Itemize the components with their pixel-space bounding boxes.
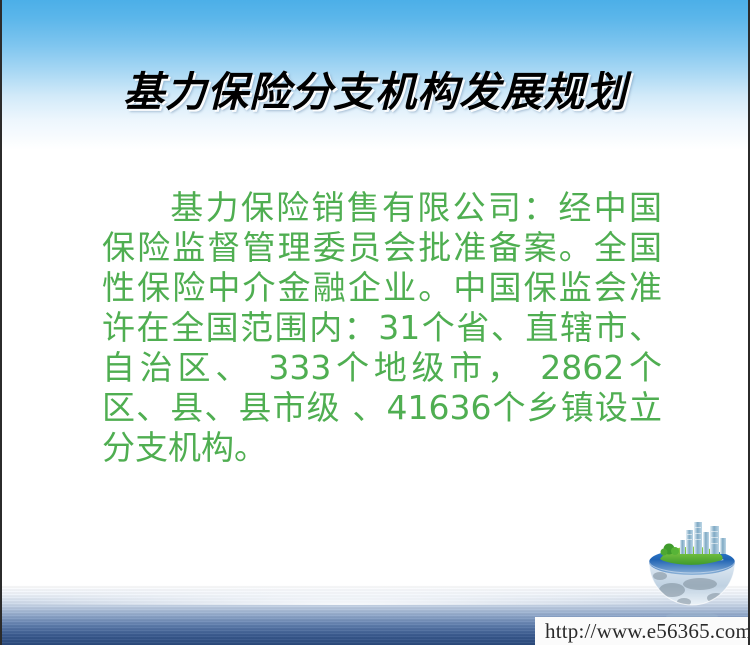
watermark-url-text: http://www.e56365.com xyxy=(545,619,750,644)
earth-city-globe-icon xyxy=(642,518,742,622)
presentation-slide: 基力保险分支机构发展规划 基力保险销售有限公司：经中国保险监督管理委员会批准备案… xyxy=(0,0,750,645)
slide-body-paragraph: 基力保险销售有限公司：经中国保险监督管理委员会批准备案。全国性保险中介金融企业。… xyxy=(102,188,662,468)
slide-title: 基力保险分支机构发展规划 xyxy=(2,58,748,118)
paragraph-text: 基力保险销售有限公司：经中国保险监督管理委员会批准备案。全国性保险中介金融企业。… xyxy=(102,188,662,467)
watermark-url-panel: http://www.e56365.com xyxy=(535,617,748,645)
